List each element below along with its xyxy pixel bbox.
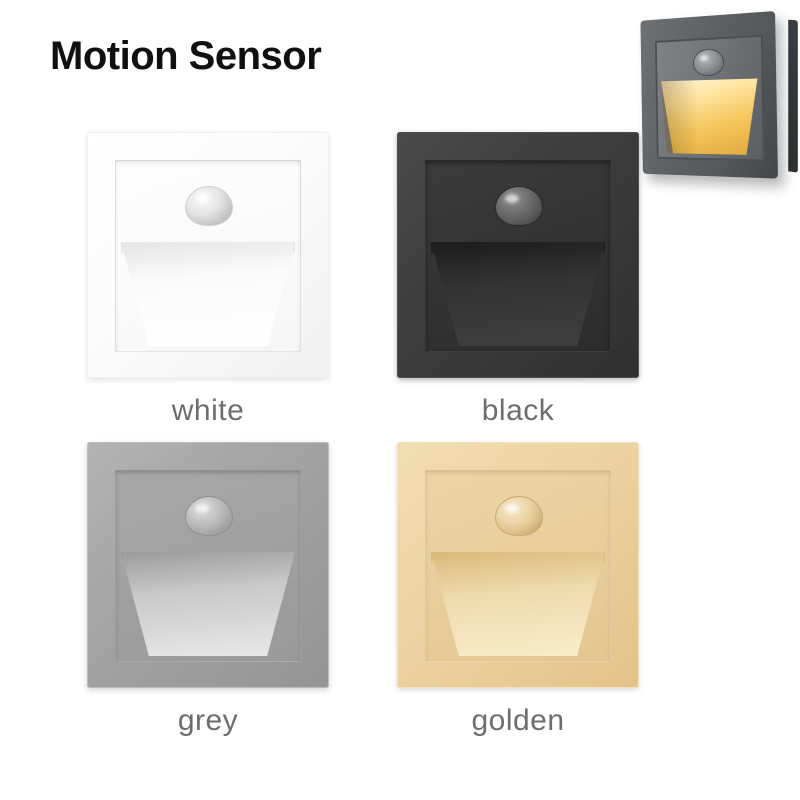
wall-plate-golden — [397, 442, 639, 688]
light-well-black — [431, 242, 605, 346]
product-card-black[interactable]: black — [358, 132, 678, 428]
product-caption-black: black — [358, 394, 678, 428]
light-recess-black — [425, 160, 611, 352]
well-face — [121, 242, 295, 346]
light-recess-grey — [115, 470, 301, 662]
product-caption-golden: golden — [358, 704, 678, 738]
page-title: Motion Sensor — [50, 34, 321, 79]
light-well-grey — [121, 552, 295, 656]
light-recess-golden — [425, 470, 611, 662]
well-face — [121, 552, 295, 656]
well-face — [431, 242, 605, 346]
pir-sensor-dome-icon — [693, 48, 724, 76]
product-card-grey[interactable]: grey — [48, 442, 368, 738]
product-card-golden[interactable]: golden — [358, 442, 678, 738]
light-well-golden — [431, 552, 605, 656]
product-caption-grey: grey — [48, 704, 368, 738]
product-caption-white: white — [48, 394, 368, 428]
wall-plate-grey — [87, 442, 329, 688]
pir-sensor-dome-icon — [185, 186, 233, 226]
pir-sensor-dome-icon — [185, 496, 233, 536]
light-recess-white — [115, 160, 301, 352]
product-card-white[interactable]: white — [48, 132, 368, 428]
pir-sensor-dome-icon — [495, 186, 543, 226]
pir-sensor-dome-icon — [495, 496, 543, 536]
wall-plate-black — [397, 132, 639, 378]
well-face — [431, 552, 605, 656]
light-well-white — [121, 242, 295, 346]
inset-plate-side-edge — [788, 20, 798, 173]
wall-plate-white — [87, 132, 329, 378]
